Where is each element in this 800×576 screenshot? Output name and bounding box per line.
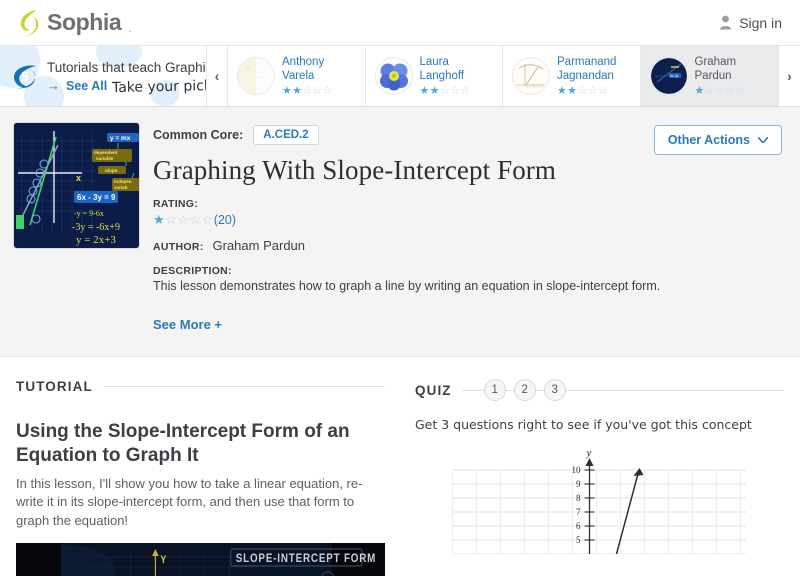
svg-text:8: 8	[576, 493, 581, 503]
svg-text:Y: Y	[160, 554, 166, 566]
svg-text:9: 9	[576, 479, 581, 489]
svg-text:x: x	[76, 173, 81, 183]
other-actions-button[interactable]: Other Actions	[654, 125, 782, 155]
tutorial-count-badge: 5	[12, 63, 38, 89]
quiz-step-1[interactable]: 1	[484, 379, 506, 401]
quiz-section-label: QUIZ	[415, 383, 452, 398]
svg-text:variable: variable	[96, 156, 114, 161]
author-label: AUTHOR:	[153, 241, 204, 253]
carousel-promo: 5 Tutorials that teach Graphing W → See …	[0, 46, 206, 106]
svg-text:SLOPE-INTERCEPT FORM: SLOPE-INTERCEPT FORM	[236, 552, 376, 565]
svg-text:dependent: dependent	[94, 150, 118, 155]
quiz-section-header: QUIZ 1 2 3	[415, 379, 784, 401]
divider	[506, 390, 514, 391]
carousel-card-name: Parmanand Jagnandan	[557, 55, 632, 84]
rating-label: RATING:	[153, 198, 782, 210]
svg-text:10: 10	[572, 465, 582, 475]
divider	[536, 390, 544, 391]
tutorial-section-label: TUTORIAL	[16, 379, 93, 394]
sign-in-button[interactable]: Sign in	[719, 15, 782, 31]
tutorial-description: In this lesson, I'll show you how to tak…	[16, 475, 385, 532]
svg-text:y = 2x+3: y = 2x+3	[76, 234, 116, 246]
carousel-card-name: Anthony Varela	[282, 55, 357, 84]
svg-text:6: 6	[576, 521, 581, 531]
svg-text:variab: variab	[114, 185, 128, 190]
carousel-promo-text: Tutorials that teach Graphing W	[47, 60, 206, 75]
author-row: AUTHOR: Graham Pardun	[153, 238, 782, 253]
svg-text:6x-3y: 6x-3y	[670, 74, 679, 78]
tutorial-title[interactable]: Using the Slope-Intercept Form of an Equ…	[16, 420, 385, 468]
svg-text:y = mx: y = mx	[110, 135, 131, 142]
rating-stars[interactable]: ★☆☆☆☆	[153, 212, 214, 228]
svg-text:•••: •••	[260, 75, 263, 79]
other-actions-label: Other Actions	[668, 133, 750, 147]
svg-text:y: y	[586, 447, 592, 459]
sign-in-label: Sign in	[739, 15, 782, 31]
svg-text:-3y = -6x+9: -3y = -6x+9	[72, 222, 120, 233]
brand-trademark: .	[128, 23, 131, 38]
brand-name: Sophia	[47, 9, 121, 36]
divider	[566, 390, 784, 391]
carousel-prev-button[interactable]: ‹	[206, 46, 228, 106]
handwritten-note: Take your pick:	[112, 78, 206, 96]
tutorial-thumbnail-chalkboard-graph-icon[interactable]: x y = mx dependent variable slope indepe…	[14, 123, 139, 248]
lower-content: TUTORIAL Using the Slope-Intercept Form …	[0, 357, 800, 576]
tutorial-section: TUTORIAL Using the Slope-Intercept Form …	[16, 379, 385, 576]
common-core-code-chip[interactable]: A.CED.2	[253, 125, 318, 145]
divider	[462, 390, 484, 391]
tutorial-carousel: 5 Tutorials that teach Graphing W → See …	[0, 45, 800, 107]
carousel-card-name: Graham Pardun	[695, 55, 770, 84]
carousel-track: ••• Anthony Varela ★★☆☆☆	[228, 46, 778, 106]
chevron-right-icon: ›	[787, 68, 792, 84]
svg-text:slope: slope	[105, 168, 118, 174]
carousel-card-rating: ★★☆☆☆	[557, 86, 632, 97]
tutorial-section-header: TUTORIAL	[16, 379, 385, 394]
carousel-card-graham-pardun[interactable]: 6x-3y Graham Pardun ★☆☆☆☆	[641, 46, 779, 106]
quiz-section: QUIZ 1 2 3 Get 3 questions right to see …	[415, 379, 784, 576]
author-name[interactable]: Graham Pardun	[213, 238, 306, 253]
carousel-card-rating: ★☆☆☆☆	[695, 86, 770, 97]
top-bar: Sophia . Sign in	[0, 0, 800, 45]
quiz-step-3[interactable]: 3	[544, 379, 566, 401]
description-text: This lesson demonstrates how to graph a …	[153, 279, 782, 293]
svg-text:5: 5	[576, 535, 581, 545]
arrow-right-icon: →	[47, 79, 60, 92]
carousel-card-anthony-varela[interactable]: ••• Anthony Varela ★★☆☆☆	[228, 46, 366, 106]
chevron-down-icon	[758, 135, 768, 146]
carousel-card-rating: ★★☆☆☆	[420, 86, 495, 97]
quiz-step-2[interactable]: 2	[514, 379, 536, 401]
see-all-link[interactable]: See All	[66, 79, 107, 93]
svg-text:indepen: indepen	[114, 179, 132, 184]
quiz-subtitle: Get 3 questions right to see if you've g…	[415, 417, 784, 432]
page-title: Graphing With Slope-Intercept Form	[153, 155, 782, 186]
avatar-chalkboard-photo-icon: 6x-3y	[651, 58, 687, 94]
carousel-card-rating: ★★☆☆☆	[282, 86, 357, 97]
rating-count: (20)	[214, 213, 236, 227]
brand-logo[interactable]: Sophia .	[18, 8, 131, 38]
carousel-card-name: Laura Langhoff	[420, 55, 495, 84]
carousel-card-laura-langhoff[interactable]: Laura Langhoff ★★☆☆☆	[366, 46, 504, 106]
tutorial-video-thumbnail[interactable]: Y SLOPE-INTERCEPT FORM	[16, 543, 385, 576]
carousel-next-button[interactable]: ›	[778, 46, 800, 106]
avatar-moon-photo-icon: •••	[238, 58, 274, 94]
rating-row[interactable]: ★☆☆☆☆ (20)	[153, 212, 782, 228]
tutorial-hero: x y = mx dependent variable slope indepe…	[0, 107, 800, 357]
description-label: DESCRIPTION:	[153, 265, 782, 277]
sophia-leaf-logo-icon	[18, 8, 40, 38]
person-icon	[719, 15, 732, 30]
avatar-pansy-flower-photo-icon	[376, 58, 412, 94]
common-core-label: Common Core:	[153, 128, 243, 142]
svg-text:-y = 9-6x: -y = 9-6x	[74, 209, 104, 218]
svg-text:7: 7	[576, 507, 581, 517]
avatar-sketch-graph-photo-icon	[513, 58, 549, 94]
svg-text:6x - 3y = 9: 6x - 3y = 9	[77, 193, 116, 202]
see-more-link[interactable]: See More +	[153, 317, 222, 332]
divider	[103, 386, 385, 387]
chevron-left-icon: ‹	[215, 68, 220, 84]
quiz-question-graph: y	[415, 442, 784, 552]
tutorial-count-value: 5	[21, 69, 28, 84]
carousel-card-parmanand-jagnandan[interactable]: Parmanand Jagnandan ★★☆☆☆	[503, 46, 641, 106]
